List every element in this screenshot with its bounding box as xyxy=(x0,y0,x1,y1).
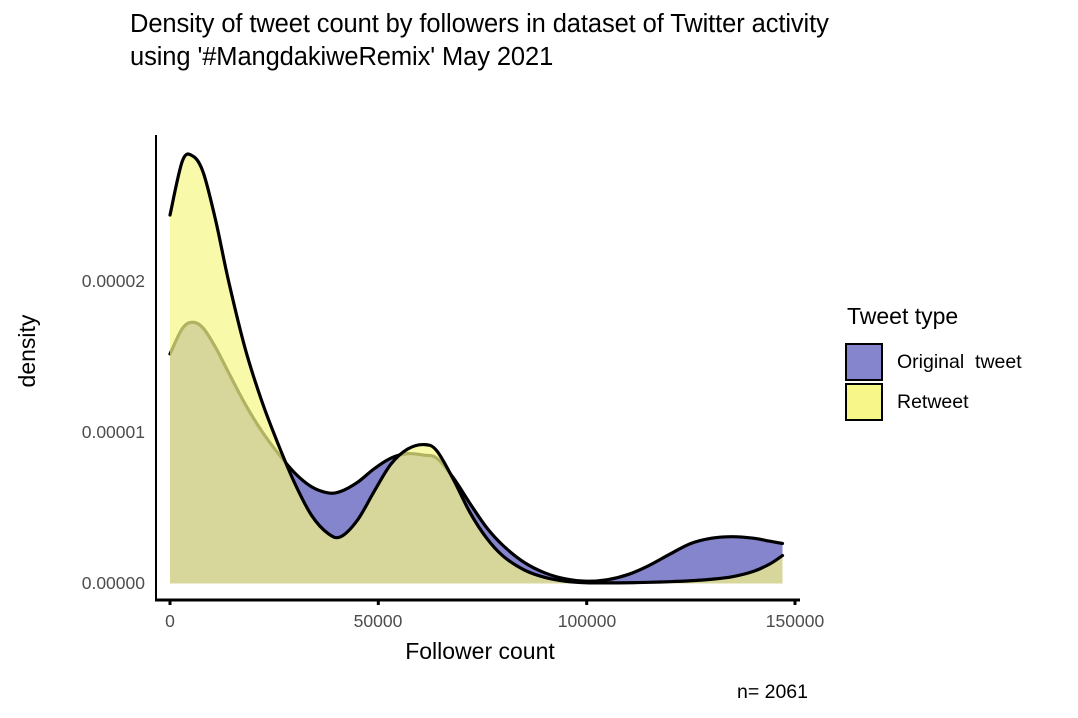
x-tick-label: 0 xyxy=(100,611,240,632)
legend: Tweet type Original tweet Retweet xyxy=(845,303,1022,422)
x-axis-tick-labels: 0 50000 100000 150000 xyxy=(0,611,1078,641)
x-tick-label: 50000 xyxy=(308,611,448,632)
legend-swatch-original-tweet xyxy=(845,343,883,381)
x-tick-label: 100000 xyxy=(517,611,657,632)
density-chart: Density of tweet count by followers in d… xyxy=(0,0,1078,718)
legend-swatch-retweet xyxy=(845,383,883,421)
y-tick-label: 0.00001 xyxy=(25,422,145,443)
x-tick-label: 150000 xyxy=(725,611,865,632)
legend-title: Tweet type xyxy=(847,303,1022,330)
y-axis-title: density xyxy=(14,291,40,411)
density-series-group xyxy=(170,154,783,584)
y-tick-label: 0.00000 xyxy=(25,573,145,594)
plot-area xyxy=(155,130,800,605)
chart-title: Density of tweet count by followers in d… xyxy=(130,8,1070,74)
legend-item-original-tweet[interactable]: Original tweet xyxy=(845,342,1022,382)
sample-size-caption: n= 2061 xyxy=(0,681,1078,704)
x-axis-title: Follower count xyxy=(240,638,720,665)
legend-label: Original tweet xyxy=(897,351,1022,374)
y-tick-label: 0.00002 xyxy=(25,271,145,292)
legend-label: Retweet xyxy=(897,391,969,414)
density-plot-svg xyxy=(155,130,800,605)
legend-item-retweet[interactable]: Retweet xyxy=(845,382,1022,422)
